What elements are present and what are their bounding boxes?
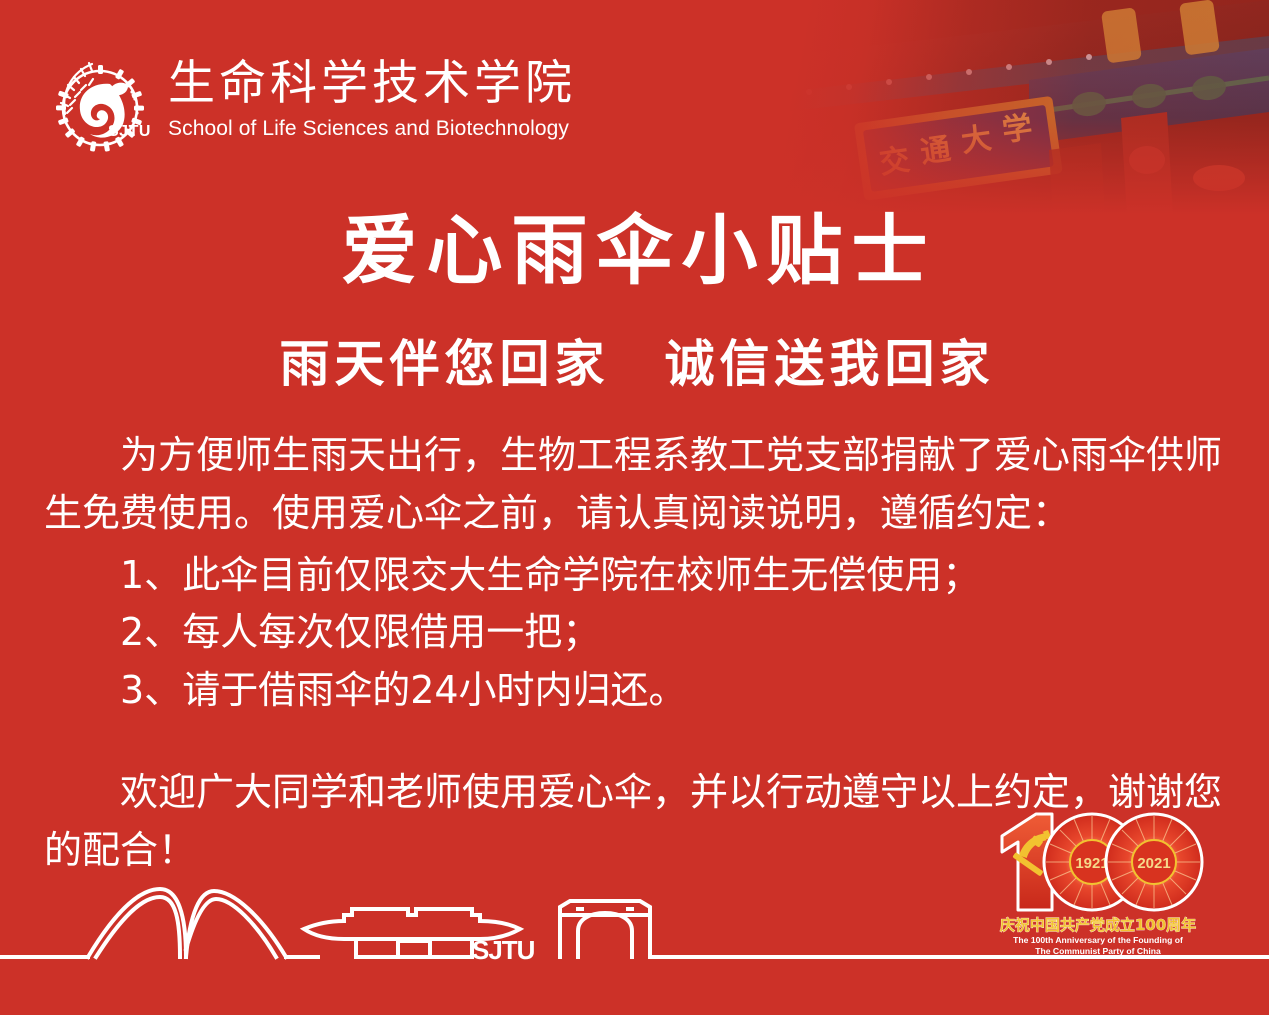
header-text-group: 生命科学技术学院 School of Life Sciences and Bio… — [168, 52, 576, 141]
rule-text: 此伞目前仅限交大生命学院在校师生无偿使用； — [182, 547, 980, 605]
page-subtitle: 雨天伴您回家 诚信送我回家 — [0, 333, 1269, 396]
list-item: 3、 请于借雨伞的24小时内归还。 — [120, 662, 1229, 720]
emblem-caption-cn: 庆祝中国共产党成立100周年 — [1000, 916, 1196, 934]
rules-list: 1、 此伞目前仅限交大生命学院在校师生无偿使用； 2、 每人每次仅限借用一把； … — [44, 547, 1229, 720]
photo-bottom-fade — [749, 0, 1269, 215]
emblem-year-start: 1921 — [1075, 855, 1108, 872]
emblem-numeral-zero-2: 2021 — [1106, 814, 1202, 910]
emblem-caption-en-line1: The 100th Anniversary of the Founding of — [1013, 935, 1183, 945]
poster-root: 交 通 大 学 — [0, 0, 1269, 1015]
skyline-wordmark: SJTU — [472, 935, 535, 965]
intro-paragraph: 为方便师生雨天出行，生物工程系教工党支部捐献了爱心雨伞供师生免费使用。使用爱心伞… — [44, 427, 1229, 543]
list-item: 1、 此伞目前仅限交大生命学院在校师生无偿使用； — [120, 547, 1229, 605]
cpc-100th-anniversary-emblem: 1921 2021 庆祝中国共产党成立100周年 The 100th Anniv… — [992, 806, 1204, 958]
rule-number: 2、 — [120, 604, 182, 662]
gate-photo: 交 通 大 学 — [749, 0, 1269, 215]
footer-band — [0, 965, 1269, 1015]
emblem-caption-en-line2: The Communist Party of China — [1035, 946, 1161, 956]
logo-wordmark: SJTU — [108, 123, 151, 140]
list-item: 2、 每人每次仅限借用一把； — [120, 604, 1229, 662]
rule-number: 1、 — [120, 547, 182, 605]
header: SJTU 生命科学技术学院 School of Life Sciences an… — [48, 52, 576, 156]
school-name-cn: 生命科学技术学院 — [168, 58, 576, 110]
rule-text: 请于借雨伞的24小时内归还。 — [182, 662, 686, 720]
sjtu-school-logo-icon: SJTU — [48, 52, 152, 156]
emblem-year-end: 2021 — [1137, 855, 1170, 872]
school-name-en: School of Life Sciences and Biotechnolog… — [168, 116, 576, 141]
page-title: 爱心雨伞小贴士 — [0, 208, 1269, 293]
rule-number: 3、 — [120, 662, 182, 720]
rule-text: 每人每次仅限借用一把； — [182, 604, 600, 662]
